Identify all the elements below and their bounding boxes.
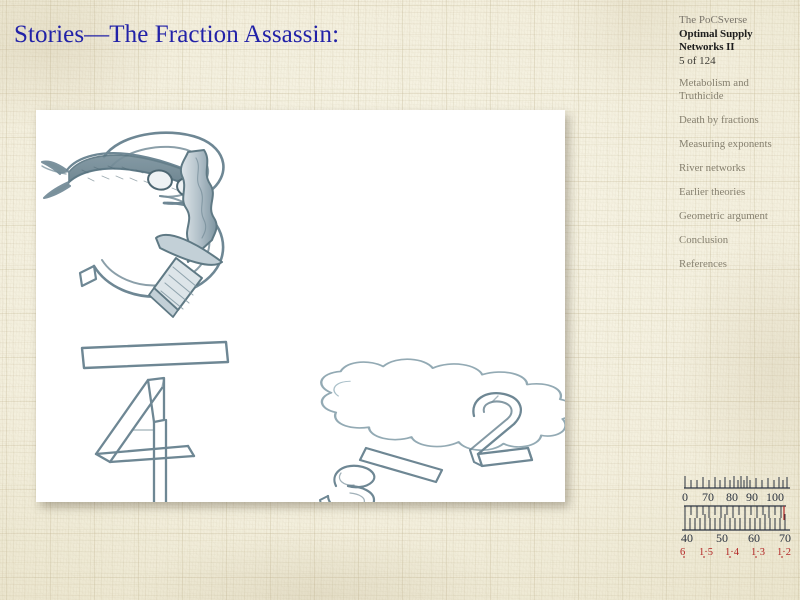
sidebar-item-earlier-theories[interactable]: Earlier theories	[679, 186, 797, 199]
page-indicator: 5 of 124	[679, 55, 797, 69]
sidebar: The PoCSverse Optimal Supply Networks II…	[679, 14, 797, 282]
ruler-label-top-0: 0	[682, 490, 688, 504]
ruler-label-red-1-3: 1·3	[751, 547, 765, 558]
sidebar-item-label: Earlier theories	[679, 186, 797, 199]
ruler-label-red-1-2: 1·2	[777, 547, 791, 558]
sidebar-nav: Metabolism and Truthicide Death by fract…	[679, 77, 797, 271]
ruler-label-red-1-4: 1·4	[725, 547, 740, 558]
ruler-label-bottom-60: 60	[748, 531, 760, 545]
sidebar-item-label: River networks	[679, 162, 797, 175]
sidebar-item-death-by-fractions[interactable]: Death by fractions	[679, 114, 797, 127]
ruler-label-bottom-50: 50	[716, 531, 728, 545]
ruler-middle-scale	[684, 506, 786, 520]
ruler-label-top-90: 90	[746, 490, 758, 504]
sidebar-deck-title-line2: Networks II	[679, 41, 797, 55]
ruler-top-labels: 0 70 80 90 100	[682, 490, 784, 504]
sidebar-item-label: Geometric argument	[679, 210, 797, 223]
slide-rule-svg: 0 70 80 90 100	[678, 468, 796, 558]
page-title: Stories—The Fraction Assassin:	[14, 20, 339, 50]
victim-fraction-bar	[360, 448, 442, 482]
sidebar-item-measuring-exponents[interactable]: Measuring exponents	[679, 138, 797, 151]
sidebar-deck-title-line1: Optimal Supply	[679, 28, 797, 42]
blood-pool	[321, 359, 565, 450]
sidebar-brand: The PoCSverse	[679, 14, 797, 28]
ruler-label-top-100: 100	[766, 490, 784, 504]
sidebar-item-conclusion[interactable]: Conclusion	[679, 234, 797, 247]
victim-numerator-three	[320, 466, 374, 502]
ruler-label-red-1-5: 1·5	[699, 547, 713, 558]
sidebar-header: The PoCSverse Optimal Supply Networks II…	[679, 14, 797, 68]
sidebar-item-label: Metabolism and	[679, 77, 797, 90]
ruler-bottom-labels: 40 50 60 70	[681, 531, 791, 545]
sidebar-item-geometric-argument[interactable]: Geometric argument	[679, 210, 797, 223]
ruler-label-top-70: 70	[702, 490, 714, 504]
fraction-assassin-drawing	[36, 110, 565, 502]
sidebar-item-label: Death by fractions	[679, 114, 797, 127]
pencil-sketch	[36, 110, 565, 502]
sidebar-item-label-cont: Truthicide	[679, 90, 797, 103]
ruler-bottom-scale	[682, 514, 790, 530]
sidebar-item-metabolism-and-truthicide[interactable]: Metabolism and Truthicide	[679, 77, 797, 103]
sidebar-item-label: References	[679, 258, 797, 271]
ruler-top-scale	[684, 476, 790, 488]
slide-canvas: Stories—The Fraction Assassin: The PoCSv…	[0, 0, 800, 600]
sidebar-item-label: Conclusion	[679, 234, 797, 247]
ruler-red-labels: 6 1·5 1·4 1·3 1·2	[680, 547, 791, 558]
ruler-graphic: 0 70 80 90 100	[678, 468, 796, 558]
ruler-label-bottom-70: 70	[779, 531, 791, 545]
ruler-label-bottom-40: 40	[681, 531, 693, 545]
sidebar-item-label: Measuring exponents	[679, 138, 797, 151]
sidebar-item-references[interactable]: References	[679, 258, 797, 271]
sidebar-item-river-networks[interactable]: River networks	[679, 162, 797, 175]
ruler-label-top-80: 80	[726, 490, 738, 504]
denominator-four	[96, 378, 194, 502]
fraction-bar	[82, 342, 228, 368]
